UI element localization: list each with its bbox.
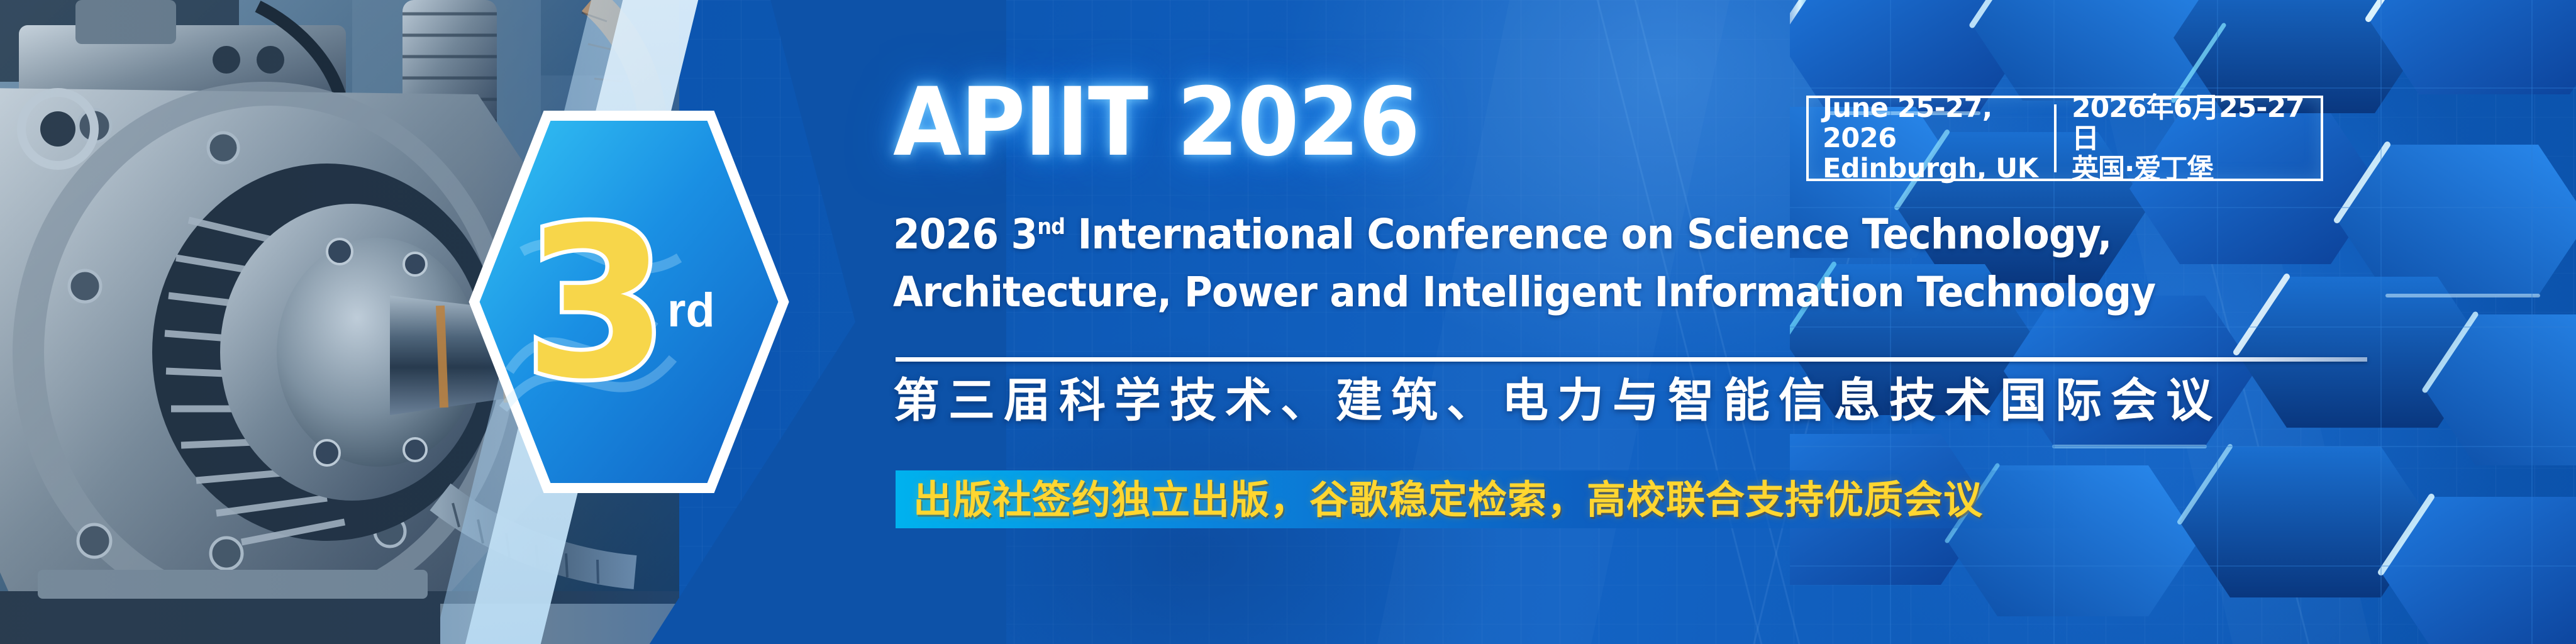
date-english: June 25-27, 2026 Edinburgh, UK	[1806, 96, 2055, 181]
edition-badge: 3 rd	[465, 107, 792, 497]
subtitle-en-line1: 2026 3nd International Conference on Sci…	[893, 214, 2112, 255]
date-zh-line1: 2026年6月25-27日	[2072, 92, 2323, 155]
horizontal-divider-rule	[896, 357, 2367, 362]
badge-text: 3 rd	[465, 107, 792, 497]
subtitle-en-line2: Architecture, Power and Intelligent Info…	[893, 272, 2155, 313]
subtitle-rest: International Conference on Science Tech…	[1065, 210, 2112, 258]
banner-content: APIIT 2026 June 25-27, 2026 Edinburgh, U…	[893, 0, 2465, 644]
conference-banner: 3 rd APIIT 2026 June 25-27, 2026 Edinbur…	[0, 0, 2576, 644]
badge-ordinal: rd	[667, 283, 715, 338]
title-row: APIIT 2026 June 25-27, 2026 Edinburgh, U…	[893, 75, 2465, 201]
date-en-line1: June 25-27, 2026	[1823, 93, 2055, 153]
date-location-box: June 25-27, 2026 Edinburgh, UK 2026年6月25…	[1806, 96, 2323, 181]
date-en-line2: Edinburgh, UK	[1823, 153, 2055, 184]
subtitle-ordinal-sup: nd	[1037, 214, 1065, 240]
badge-number: 3	[524, 200, 665, 408]
date-chinese: 2026年6月25-27日 英国·爱丁堡	[2055, 96, 2323, 181]
subtitle-chinese: 第三届科学技术、建筑、电力与智能信息技术国际会议	[893, 377, 2221, 424]
main-title: APIIT 2026	[893, 75, 1419, 170]
date-zh-line2: 英国·爱丁堡	[2072, 154, 2323, 184]
subtitle-prefix: 2026 3	[893, 210, 1037, 258]
tagline-chinese: 出版社签约独立出版，谷歌稳定检索，高校联合支持优质会议	[913, 473, 1983, 527]
